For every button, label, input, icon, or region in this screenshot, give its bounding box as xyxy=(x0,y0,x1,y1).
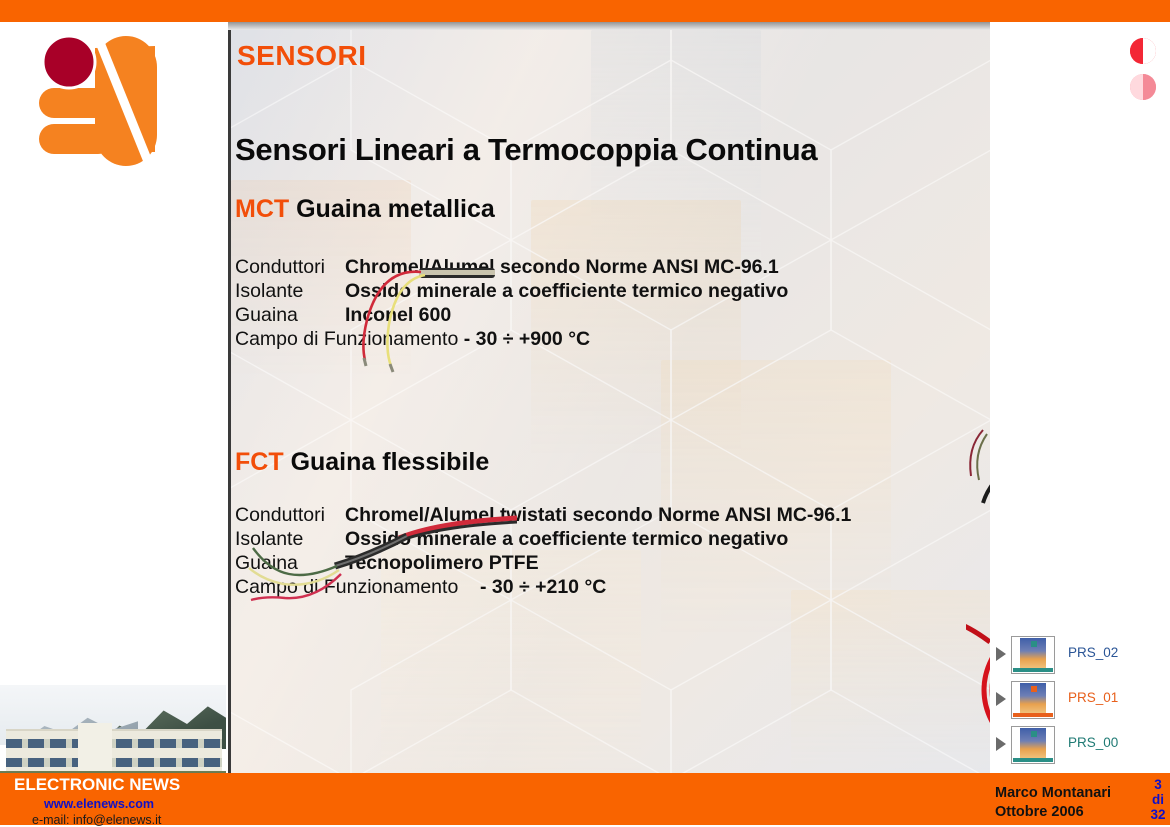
thumbnail-label[interactable]: PRS_00 xyxy=(1068,735,1118,750)
spec-label: Guaina xyxy=(235,303,345,327)
footer-bar: ELECTRONIC NEWS www.elenews.com e-mail: … xyxy=(0,773,1170,825)
spec-list-mct: ConduttoriChromel/Alumel secondo Norme A… xyxy=(235,255,788,351)
play-triangle-icon[interactable] xyxy=(996,647,1006,661)
left-rail xyxy=(0,22,228,773)
slide-thumbnail-panel[interactable]: PRS_02 PRS_01 PRS_00 xyxy=(996,628,1170,768)
fct-sensor-photo xyxy=(239,508,517,620)
footer-date: Ottobre 2006 xyxy=(995,804,1084,820)
half-circle-prev-icon[interactable] xyxy=(1130,74,1156,100)
thumbnail-image[interactable] xyxy=(1011,726,1055,764)
slide-canvas[interactable]: SENSORI Sensori Lineari a Termocoppia Co… xyxy=(228,30,996,773)
spec-label: Isolante xyxy=(235,279,345,303)
list-item[interactable]: PRS_00 xyxy=(996,726,1170,764)
page-total: 32 xyxy=(1146,807,1170,822)
mct-sensor-photo xyxy=(341,262,501,382)
section-code-mct: MCT xyxy=(235,195,289,223)
slide-title: Sensori Lineari a Termocoppia Continua xyxy=(235,132,817,168)
section-heading-mct: MCT Guaina metallica xyxy=(235,195,495,224)
spec-row: ConduttoriChromel/Alumel secondo Norme A… xyxy=(235,255,788,279)
top-orange-bar xyxy=(0,0,1170,22)
section-title-mct: Guaina metallica xyxy=(296,195,495,223)
elenews-logo xyxy=(37,34,157,174)
page-current: 3 xyxy=(1146,777,1170,792)
footer-author: Marco Montanari xyxy=(995,785,1111,801)
footer-website-link[interactable]: www.elenews.com xyxy=(44,797,154,811)
page-of-label: di xyxy=(1146,792,1170,807)
thumbnail-label[interactable]: PRS_02 xyxy=(1068,645,1118,660)
section-title-fct: Guaina flessibile xyxy=(291,448,490,476)
slide-kicker: SENSORI xyxy=(237,40,367,72)
section-heading-fct: FCT Guaina flessibile xyxy=(235,448,489,477)
footer-brand: ELECTRONIC NEWS xyxy=(14,775,180,795)
spec-row: IsolanteOssido minerale a coefficiente t… xyxy=(235,279,788,303)
list-item[interactable]: PRS_01 xyxy=(996,681,1170,719)
black-coiled-cable-photo xyxy=(949,308,996,513)
play-triangle-icon[interactable] xyxy=(996,692,1006,706)
spec-row: Campo di Funzionamento - 30 ÷ +900 °C xyxy=(235,327,788,351)
thumbnail-image[interactable] xyxy=(1011,681,1055,719)
section-code-fct: FCT xyxy=(235,448,284,476)
spec-label: Conduttori xyxy=(235,255,345,279)
nav-icon-group[interactable] xyxy=(1130,38,1160,108)
thumbnail-label[interactable]: PRS_01 xyxy=(1068,690,1118,705)
thumbnail-image[interactable] xyxy=(1011,636,1055,674)
spec-row: GuainaInconel 600 xyxy=(235,303,788,327)
half-circle-next-icon[interactable] xyxy=(1130,38,1156,64)
list-item[interactable]: PRS_02 xyxy=(996,636,1170,674)
page-number: 3 di 32 xyxy=(1146,777,1170,822)
play-triangle-icon[interactable] xyxy=(996,737,1006,751)
